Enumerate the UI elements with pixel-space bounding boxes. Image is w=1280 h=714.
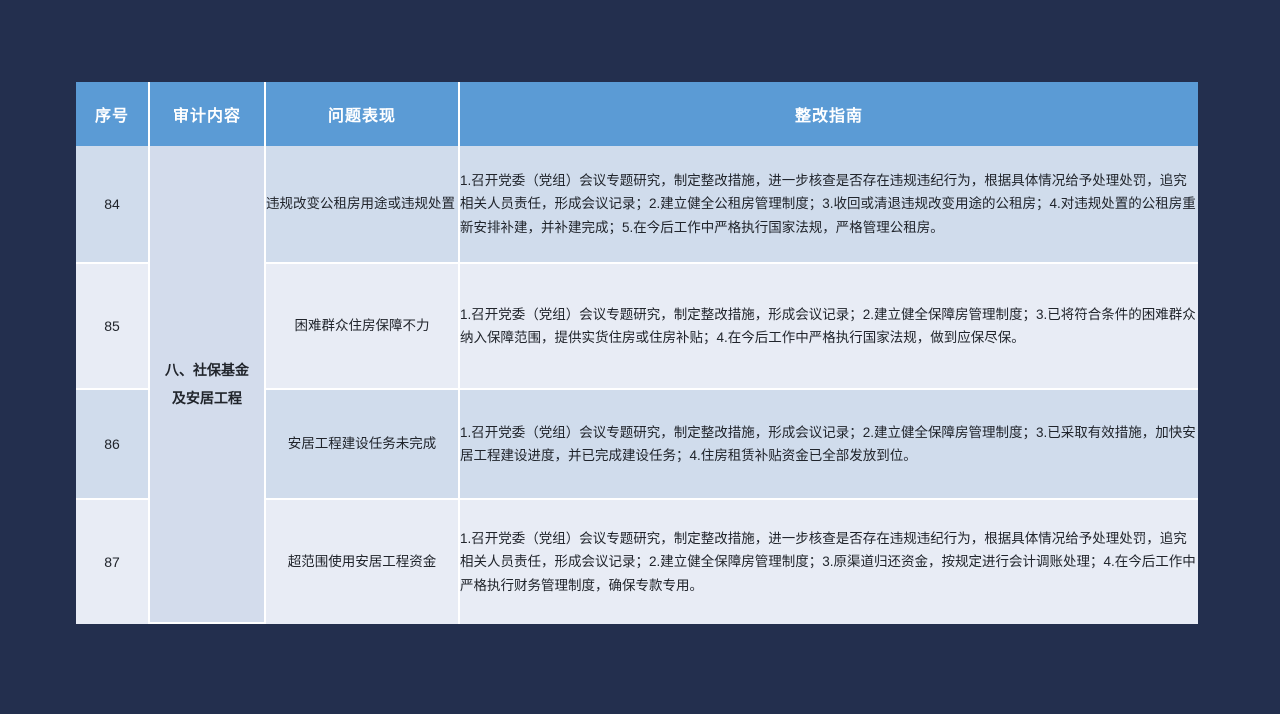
cell-remediation-guide: 1.召开党委（党组）会议专题研究，制定整改措施，形成会议记录；2.建立健全保障房… xyxy=(460,264,1198,390)
cell-remediation-guide: 1.召开党委（党组）会议专题研究，制定整改措施，进一步核查是否存在违规违纪行为，… xyxy=(460,146,1198,264)
cell-sequence: 87 xyxy=(76,500,150,624)
cell-sequence: 85 xyxy=(76,264,150,390)
cell-remediation-guide: 1.召开党委（党组）会议专题研究，制定整改措施，形成会议记录；2.建立健全保障房… xyxy=(460,390,1198,500)
column-header-audit-content: 审计内容 xyxy=(150,82,266,146)
audit-content-line-2: 及安居工程 xyxy=(150,384,264,412)
cell-issue: 安居工程建设任务未完成 xyxy=(266,390,460,500)
table-row: 84 八、社保基金 及安居工程 违规改变公租房用途或违规处置 1.召开党委（党组… xyxy=(76,146,1198,264)
cell-sequence: 84 xyxy=(76,146,150,264)
column-header-remediation-guide: 整改指南 xyxy=(460,82,1198,146)
cell-issue: 超范围使用安居工程资金 xyxy=(266,500,460,624)
slide-canvas: 序号 审计内容 问题表现 整改指南 84 八、社保基金 及安居工程 违规改变公租… xyxy=(0,0,1280,714)
audit-remediation-table: 序号 审计内容 问题表现 整改指南 84 八、社保基金 及安居工程 违规改变公租… xyxy=(76,82,1198,624)
column-header-issue: 问题表现 xyxy=(266,82,460,146)
table-body: 84 八、社保基金 及安居工程 违规改变公租房用途或违规处置 1.召开党委（党组… xyxy=(76,146,1198,624)
cell-sequence: 86 xyxy=(76,390,150,500)
column-header-sequence: 序号 xyxy=(76,82,150,146)
table-header: 序号 审计内容 问题表现 整改指南 xyxy=(76,82,1198,146)
cell-issue: 违规改变公租房用途或违规处置 xyxy=(266,146,460,264)
table-header-row: 序号 审计内容 问题表现 整改指南 xyxy=(76,82,1198,146)
audit-table-container: 序号 审计内容 问题表现 整改指南 84 八、社保基金 及安居工程 违规改变公租… xyxy=(76,82,1196,622)
cell-audit-content-merged: 八、社保基金 及安居工程 xyxy=(150,146,266,624)
cell-issue: 困难群众住房保障不力 xyxy=(266,264,460,390)
audit-content-line-1: 八、社保基金 xyxy=(150,356,264,384)
cell-remediation-guide: 1.召开党委（党组）会议专题研究，制定整改措施，进一步核查是否存在违规违纪行为，… xyxy=(460,500,1198,624)
